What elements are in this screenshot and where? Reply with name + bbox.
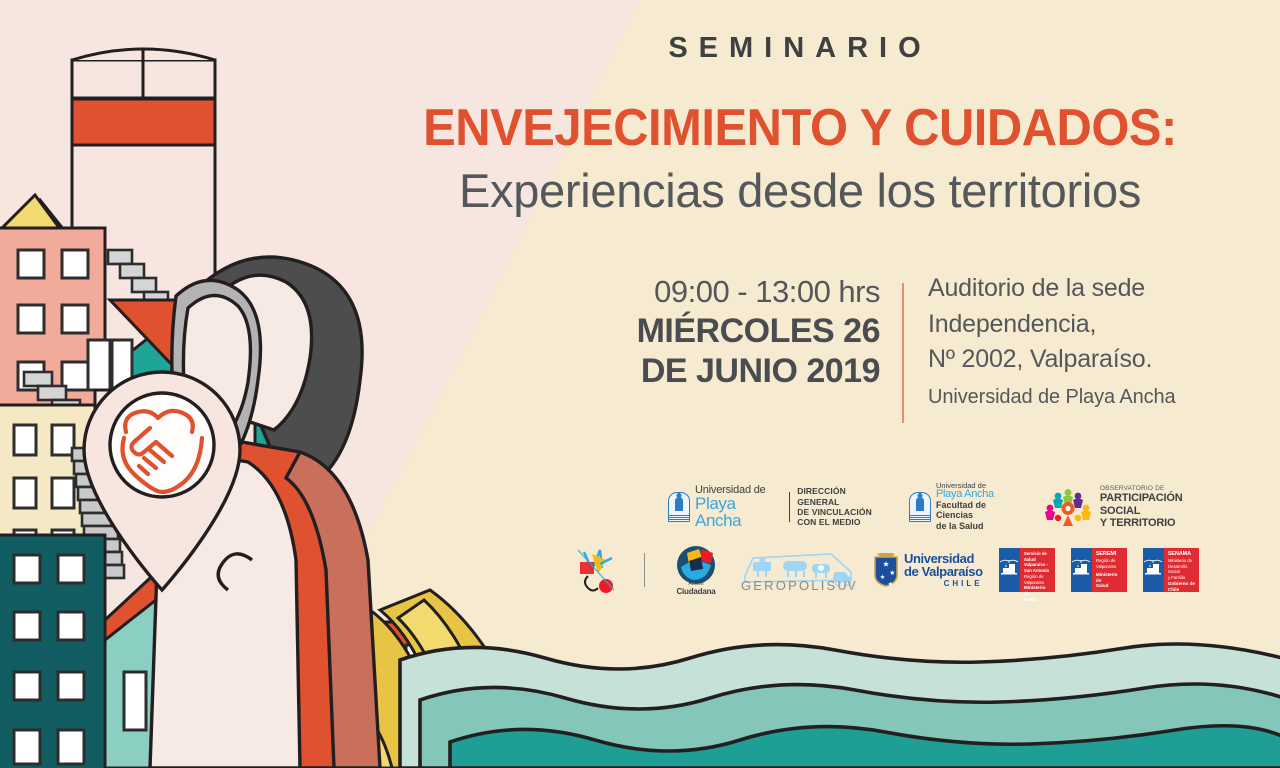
event-info: 09:00 - 13:00 hrs MIÉRCOLES 26 DE JUNIO … xyxy=(580,275,1250,435)
fcs-line3: Facultad de Ciencias xyxy=(936,501,1022,521)
uv-shield-icon xyxy=(873,553,899,587)
dgvm-line2: DE VINCULACIÓN xyxy=(797,507,887,517)
logo-observatorio: OBSERVATORIO DE PARTICIPACIÓN SOCIAL Y T… xyxy=(1044,485,1220,529)
dgvm-line1: DIRECCIÓN GENERAL xyxy=(797,486,887,507)
poster-text: SEMINARIO ENVEJECIMIENTO Y CUIDADOS: Exp… xyxy=(370,0,1250,470)
logo-servicio-salud-valparaiso: Servicio de Salud Valparaíso - San Anton… xyxy=(999,548,1055,592)
logo-universidad-valparaiso: Universidad de Valparaíso CHILE xyxy=(873,552,983,588)
event-date-line1: MIÉRCOLES 26 xyxy=(580,312,880,350)
upla-crest-icon xyxy=(909,492,931,522)
chile-coat-of-arms-icon xyxy=(998,559,1020,577)
seremi-footer1: Ministerio de xyxy=(1096,572,1124,583)
dark-teal-building xyxy=(0,535,105,768)
event-schedule: 09:00 - 13:00 hrs MIÉRCOLES 26 DE JUNIO … xyxy=(580,275,880,391)
senama-sub1: Ministerio de xyxy=(1168,558,1196,564)
chile-coat-of-arms-icon xyxy=(1142,559,1164,577)
event-date-line2: DE JUNIO 2019 xyxy=(580,352,880,390)
ssva-footer1: Ministerio de xyxy=(1024,585,1052,596)
observatorio-people-icon xyxy=(1044,488,1092,526)
geropolis-wordmark: GEROPOLISUV xyxy=(741,578,857,593)
venue-line2: Independencia, xyxy=(928,307,1238,343)
ciudadana-caption: Acción Ciudadana xyxy=(669,581,723,596)
geropolis-suffix: UV xyxy=(837,578,856,593)
dgvm-line3: CON EL MEDIO xyxy=(797,517,887,527)
sponsor-logo-row-2: Acción Ciudadana xyxy=(572,544,1199,596)
sponsor-logo-row-1: Universidad de Playa Ancha DIRECCIÓN GEN… xyxy=(668,482,1220,532)
seminar-poster: SEMINARIO ENVEJECIMIENTO Y CUIDADOS: Exp… xyxy=(0,0,1280,768)
logo-parv xyxy=(572,544,620,596)
logo-senama: SENAMA Ministerio de Desarrollo Social y… xyxy=(1143,548,1199,592)
sponsor-logos: Universidad de Playa Ancha DIRECCIÓN GEN… xyxy=(560,482,1220,632)
logo-separator xyxy=(789,492,791,522)
geropolis-text: GEROPOLIS xyxy=(741,578,837,593)
logo-geropolis-uv: GEROPOLISUV xyxy=(739,546,857,594)
upla-crest-icon xyxy=(668,492,690,522)
fcs-line4: de la Salud xyxy=(936,522,1022,532)
venue-line1: Auditorio de la sede xyxy=(928,271,1238,307)
uv-line3: CHILE xyxy=(904,580,983,588)
seremi-subtitle: Región de Valparaíso xyxy=(1096,558,1124,569)
event-venue: Auditorio de la sede Independencia, Nº 2… xyxy=(928,271,1238,411)
page-title: ENVEJECIMIENTO Y CUIDADOS: xyxy=(396,98,1204,158)
kicker-seminario: SEMINARIO xyxy=(370,32,1230,65)
ssva-footer2: Salud xyxy=(1024,597,1052,603)
senama-title: SENAMA xyxy=(1168,551,1196,558)
logo-accion-ciudadana: Acción Ciudadana xyxy=(669,545,723,595)
venue-line3: Nº 2002, Valparaíso. xyxy=(928,342,1238,378)
logo-seremi-salud: SEREMI Región de Valparaíso Ministerio d… xyxy=(1071,548,1127,592)
ciudadana-caption-main: Ciudadana xyxy=(676,587,715,596)
observatorio-line2: PARTICIPACIÓN SOCIAL xyxy=(1100,492,1220,517)
event-time: 09:00 - 13:00 hrs xyxy=(580,275,880,310)
observatorio-line3: Y TERRITORIO xyxy=(1100,517,1220,529)
uv-line1: Universidad xyxy=(904,552,983,565)
senama-footer: Gobierno de Chile xyxy=(1168,581,1196,592)
senama-sub2: Desarrollo Social xyxy=(1168,564,1196,575)
upla-line2: Playa Ancha xyxy=(695,495,782,530)
seremi-footer2: Salud xyxy=(1096,583,1124,589)
ssva-subtitle: Región de Valparaíso xyxy=(1024,574,1052,585)
logo-separator xyxy=(644,553,645,587)
chile-coat-of-arms-icon xyxy=(1070,559,1092,577)
logo-upla-facultad-salud: Universidad de Playa Ancha Facultad de C… xyxy=(909,482,1022,532)
page-subtitle: Experiencias desde los territorios xyxy=(370,163,1230,218)
vertical-divider xyxy=(902,283,904,423)
uv-line2: de Valparaíso xyxy=(904,565,983,578)
seremi-title: SEREMI xyxy=(1096,551,1124,558)
logo-upla-dgvm: Universidad de Playa Ancha DIRECCIÓN GEN… xyxy=(668,485,887,530)
venue-institution: Universidad de Playa Ancha xyxy=(928,383,1238,411)
fcs-line2: Playa Ancha xyxy=(936,489,1022,501)
ocean-waves xyxy=(400,644,1280,768)
